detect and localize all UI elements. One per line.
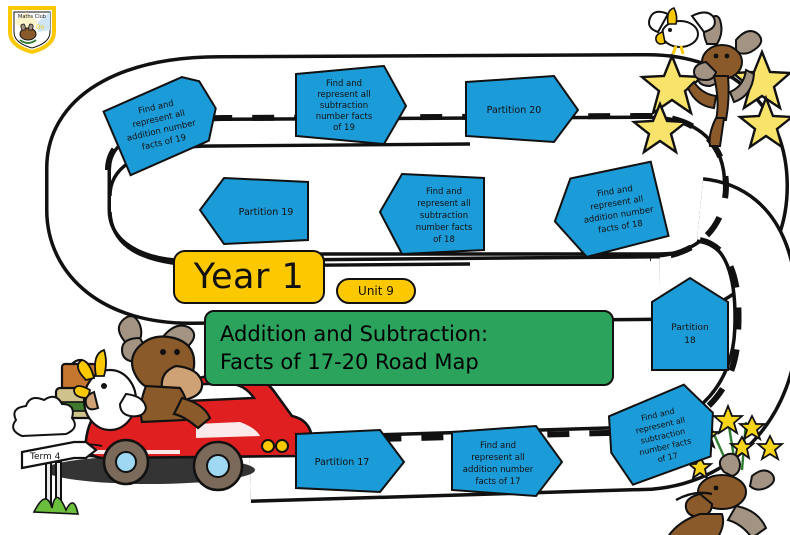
year-badge[interactable]: Year 1	[173, 250, 325, 304]
title-line-2: Facts of 17-20 Road Map	[220, 348, 479, 376]
page-title: Addition and Subtraction: Facts of 17-20…	[204, 310, 614, 386]
logo-text-bottom: Do	[36, 24, 45, 31]
title-block: Year 1 Unit 9 Addition and Subtraction: …	[0, 0, 790, 535]
title-line-1: Addition and Subtraction:	[220, 320, 488, 348]
road-map-poster: Term 4 Find and represent all addition n…	[0, 0, 790, 535]
maths-club-badge[interactable]: Maths Club Do	[6, 4, 58, 54]
year-label: Year 1	[194, 257, 305, 297]
logo-text-top: Maths Club	[18, 14, 46, 20]
unit-badge[interactable]: Unit 9	[336, 278, 416, 304]
unit-label: Unit 9	[358, 284, 394, 298]
